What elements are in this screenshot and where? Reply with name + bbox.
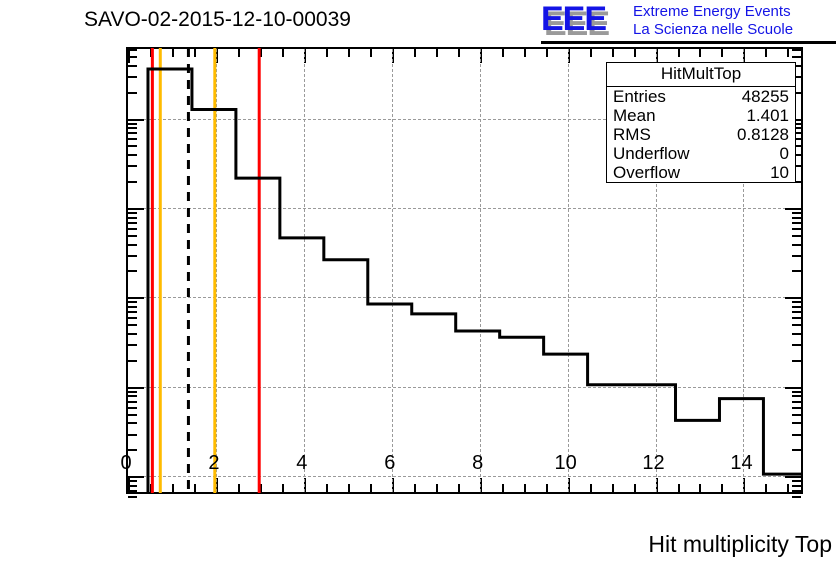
stats-row-key: Mean <box>613 106 656 125</box>
x-axis-label: 12 <box>642 452 664 475</box>
eee-logo-mark-icon: EEE <box>541 2 606 36</box>
stats-row: Overflow10 <box>607 163 795 182</box>
x-axis-label: 4 <box>296 452 307 475</box>
stats-title: HitMultTop <box>607 63 795 87</box>
stats-row-key: Entries <box>613 87 666 106</box>
stats-row-key: Underflow <box>613 144 690 163</box>
stats-row-value: 0.8128 <box>737 125 789 144</box>
stats-row: Entries48255 <box>607 87 795 106</box>
stats-row-key: RMS <box>613 125 651 144</box>
x-axis-label: 10 <box>554 452 576 475</box>
root-canvas: SAVO-02-2015-12-10-00039 EEE EEE Extreme… <box>0 0 836 572</box>
x-axis-label: 6 <box>384 452 395 475</box>
stats-rows: Entries48255Mean1.401RMS0.8128Underflow0… <box>607 87 795 182</box>
x-axis-label: 14 <box>730 452 752 475</box>
stats-row: Underflow0 <box>607 144 795 163</box>
x-axis-label: 8 <box>472 452 483 475</box>
stats-row-key: Overflow <box>613 163 680 182</box>
stats-row: RMS0.8128 <box>607 125 795 144</box>
x-axis-title: Hit multiplicity Top <box>648 531 832 558</box>
stats-row-value: 1.401 <box>746 106 789 125</box>
stats-box: HitMultTop Entries48255Mean1.401RMS0.812… <box>606 62 796 183</box>
stats-row: Mean1.401 <box>607 106 795 125</box>
stats-row-value: 0 <box>780 144 789 163</box>
x-axis-label: 0 <box>120 452 131 475</box>
stats-row-value: 10 <box>770 163 789 182</box>
stats-row-value: 48255 <box>742 87 789 106</box>
x-axis-label: 2 <box>208 452 219 475</box>
